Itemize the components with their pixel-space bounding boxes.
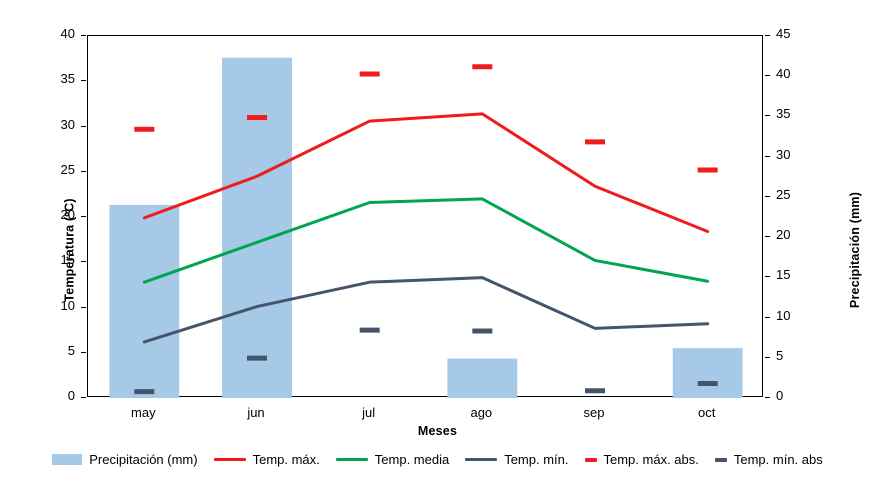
y-axis-right-tick-mark: [765, 317, 770, 318]
bar: [109, 205, 179, 398]
legend-line-swatch: [465, 458, 497, 462]
y-axis-left-tick-label: 0: [35, 388, 75, 403]
y-axis-left-tick-mark: [81, 397, 86, 398]
x-axis-tick-label: sep: [534, 405, 654, 420]
y-axis-left-tick-label: 10: [35, 298, 75, 313]
y-axis-right-tick-label: 15: [776, 267, 816, 282]
y-axis-left-tick-label: 5: [35, 343, 75, 358]
y-axis-right-tick-mark: [765, 196, 770, 197]
legend-dash-swatch: [715, 458, 727, 462]
y-axis-right-tick-label: 20: [776, 227, 816, 242]
legend-line-swatch: [214, 458, 246, 462]
y-axis-left-tick-mark: [81, 126, 86, 127]
bar-series: [109, 58, 742, 398]
y-axis-left-tick-mark: [81, 216, 86, 217]
y-axis-left-tick-label: 40: [35, 26, 75, 41]
legend-item[interactable]: Temp. máx. abs.: [585, 452, 699, 467]
chart-legend: Precipitación (mm)Temp. máx.Temp. mediaT…: [0, 452, 875, 467]
y-axis-right-title: Precipitación (mm): [848, 192, 862, 308]
y-axis-left-tick-label: 15: [35, 252, 75, 267]
y-axis-right-tick-label: 10: [776, 308, 816, 323]
y-axis-right-tick-mark: [765, 156, 770, 157]
y-axis-right-tick-mark: [765, 75, 770, 76]
bar: [447, 359, 517, 398]
y-axis-right-tick-label: 25: [776, 187, 816, 202]
y-axis-left-tick-mark: [81, 307, 86, 308]
y-axis-right-tick-mark: [765, 236, 770, 237]
y-axis-right-tick-label: 45: [776, 26, 816, 41]
y-axis-left-tick-mark: [81, 80, 86, 81]
y-axis-left-tick-mark: [81, 35, 86, 36]
legend-item-label: Temp. media: [375, 452, 449, 467]
y-axis-right-tick-label: 5: [776, 348, 816, 363]
y-axis-left-tick-label: 35: [35, 71, 75, 86]
y-axis-left-tick-label: 20: [35, 207, 75, 222]
legend-item[interactable]: Temp. mín. abs: [715, 452, 823, 467]
legend-item[interactable]: Precipitación (mm): [52, 452, 197, 467]
legend-dash-swatch: [585, 458, 597, 462]
y-axis-left-tick-label: 30: [35, 117, 75, 132]
legend-item[interactable]: Temp. media: [336, 452, 449, 467]
x-axis-tick-label: jul: [309, 405, 429, 420]
legend-item[interactable]: Temp. mín.: [465, 452, 568, 467]
plot-area: [87, 35, 763, 397]
legend-line-swatch: [336, 458, 368, 462]
y-axis-right-tick-mark: [765, 276, 770, 277]
y-axis-left-tick-mark: [81, 261, 86, 262]
y-axis-right-tick-label: 40: [776, 66, 816, 81]
legend-item-label: Temp. máx. abs.: [604, 452, 699, 467]
y-axis-right-tick-label: 30: [776, 147, 816, 162]
marker-series: [134, 330, 717, 392]
bar: [222, 58, 292, 398]
x-axis-tick-label: ago: [421, 405, 541, 420]
legend-bar-swatch: [52, 454, 82, 465]
y-axis-right-tick-mark: [765, 115, 770, 116]
y-axis-right-tick-mark: [765, 357, 770, 358]
y-axis-right-tick-label: 35: [776, 106, 816, 121]
climate-chart: Temperatura (ºC) Precipitación (mm) Mese…: [0, 0, 875, 500]
y-axis-left-tick-mark: [81, 352, 86, 353]
y-axis-right-tick-mark: [765, 397, 770, 398]
legend-item-label: Temp. máx.: [253, 452, 320, 467]
legend-item-label: Precipitación (mm): [89, 452, 197, 467]
x-axis-tick-label: jun: [196, 405, 316, 420]
plot-svg: [88, 36, 764, 398]
bar: [673, 348, 743, 398]
y-axis-right-tick-mark: [765, 35, 770, 36]
x-axis-title: Meses: [0, 424, 875, 438]
x-axis-tick-label: oct: [647, 405, 767, 420]
legend-item[interactable]: Temp. máx.: [214, 452, 320, 467]
legend-item-label: Temp. mín. abs: [734, 452, 823, 467]
y-axis-right-tick-label: 0: [776, 388, 816, 403]
y-axis-left-tick-mark: [81, 171, 86, 172]
x-axis-tick-label: may: [83, 405, 203, 420]
legend-item-label: Temp. mín.: [504, 452, 568, 467]
y-axis-left-tick-label: 25: [35, 162, 75, 177]
